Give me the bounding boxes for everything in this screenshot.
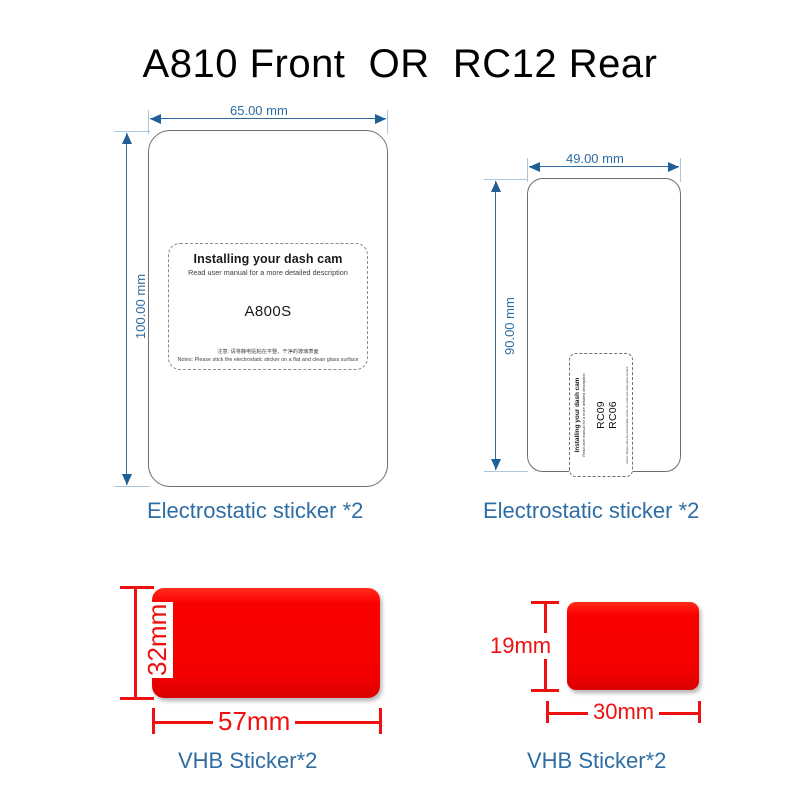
left-vhb-height-label: 32mm — [142, 602, 173, 678]
left-card-height-arrow-down-icon — [122, 474, 132, 485]
left-card-ext-line-top-end — [387, 110, 388, 134]
right-vhb-sticker[interactable] — [567, 602, 699, 690]
right-vhb-caption: VHB Sticker*2 — [527, 748, 666, 774]
right-card-height-arrow-up-icon — [491, 181, 501, 192]
right-card-width-label: 49.00 mm — [561, 151, 629, 166]
left-card-width-dim-line — [150, 118, 386, 119]
left-sticker-note-cn: 注意: 请将静电贴粘在平整、干净的玻璃表面 — [169, 348, 367, 355]
left-card-height-arrow-up-icon — [122, 133, 132, 144]
left-card-height-dim-line — [126, 133, 127, 485]
right-card-height-arrow-down-icon — [491, 459, 501, 470]
left-card-width-arrow-left-icon — [150, 114, 161, 124]
page-title: A810 Front OR RC12 Rear — [0, 42, 800, 87]
right-card-ext-line-left-bottom — [484, 471, 528, 472]
right-sticker-heading: Installing your dash cam — [574, 354, 581, 476]
right-card-caption: Electrostatic sticker *2 — [483, 498, 699, 524]
right-inner-sticker: Installing your dash cam Read user manua… — [569, 353, 633, 477]
right-card-ext-line-left-top — [484, 179, 528, 180]
right-inner-sticker-wrap: Installing your dash cam Read user manua… — [549, 373, 653, 457]
left-card-ext-line-left-bottom — [114, 486, 150, 487]
left-sticker-subheading: Read user manual for a more detailed des… — [169, 268, 367, 277]
right-sticker-note-en: Notes: Please stick the electrostatic st… — [626, 354, 630, 476]
left-card-width-arrow-right-icon — [375, 114, 386, 124]
left-sticker-heading: Installing your dash cam — [169, 252, 367, 266]
left-card-height-label: 100.00 mm — [133, 269, 148, 344]
left-vhb-sticker[interactable] — [152, 588, 380, 698]
left-vhb-height-dim-line — [134, 586, 137, 698]
right-vhb-width-label: 30mm — [588, 699, 659, 725]
left-sticker-note-en: Notes: Please stick the electrostatic st… — [169, 357, 367, 363]
left-vhb-height-cap-top — [120, 586, 154, 589]
left-inner-sticker: Installing your dash cam Read user manua… — [168, 243, 368, 370]
left-card-ext-line-left-top — [114, 131, 150, 132]
right-card-ext-line-top-end — [680, 158, 681, 182]
right-card-width-arrow-right-icon — [668, 162, 679, 172]
right-vhb-height-label: 19mm — [487, 633, 554, 659]
right-card-height-label: 90.00 mm — [502, 292, 517, 360]
left-vhb-width-label: 57mm — [213, 706, 295, 737]
right-sticker-model-1: RC09 — [595, 354, 607, 476]
left-card-caption: Electrostatic sticker *2 — [147, 498, 363, 524]
left-card-width-label: 65.00 mm — [224, 103, 294, 118]
right-card-height-dim-line — [495, 181, 496, 470]
right-card-width-dim-line — [529, 166, 679, 167]
left-vhb-caption: VHB Sticker*2 — [178, 748, 317, 774]
right-sticker-model-2: RC06 — [607, 354, 619, 476]
right-sticker-subheading: Read user manual for a more detailed des… — [582, 354, 587, 476]
left-sticker-model: A800S — [169, 303, 367, 320]
right-card-width-arrow-left-icon — [529, 162, 540, 172]
left-vhb-height-cap-bottom — [120, 697, 154, 700]
